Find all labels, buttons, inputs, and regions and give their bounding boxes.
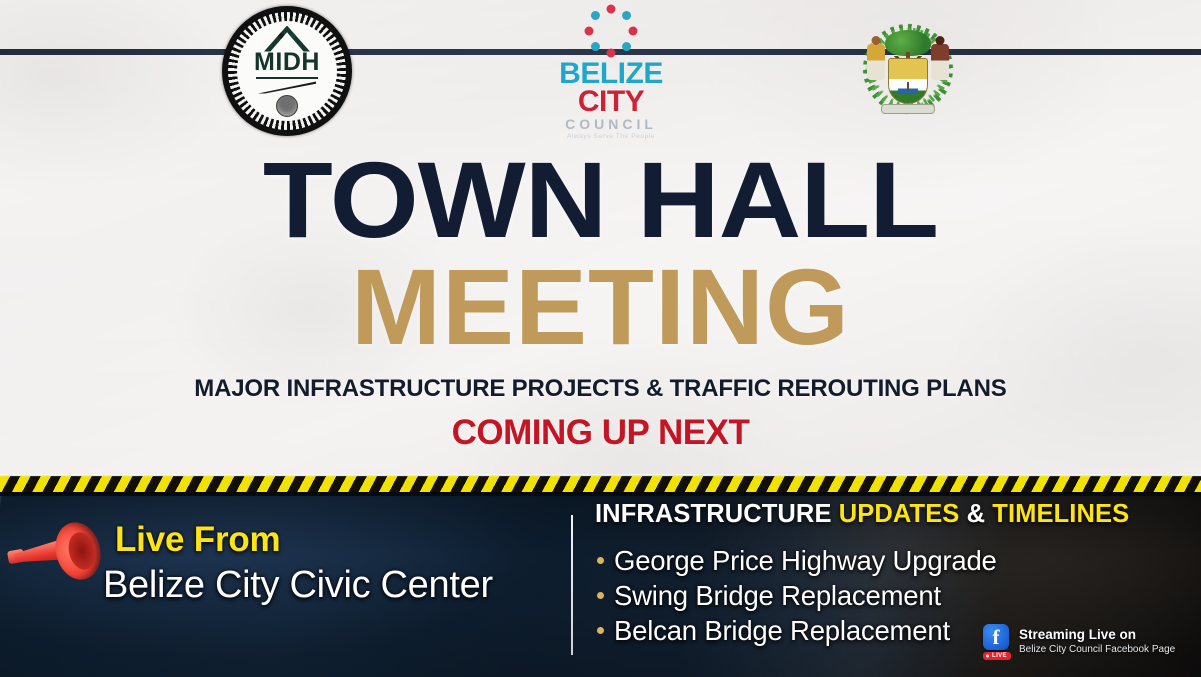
hazard-tape-divider <box>0 476 1201 492</box>
live-venue-name: Belize City Civic Center <box>103 564 493 607</box>
hazard-tape-highlight <box>0 474 1201 477</box>
streaming-badge: f LIVE Streaming Live on Belize City Cou… <box>983 624 1175 658</box>
infrastructure-heading-updates: UPDATES <box>839 500 960 528</box>
streaming-headline: Streaming Live on <box>1019 627 1175 643</box>
streaming-page-name: Belize City Council Facebook Page <box>1019 644 1175 656</box>
coming-up-next-text: COMING UP NEXT <box>452 413 750 453</box>
infrastructure-heading: INFRASTRUCTURE UPDATES & TIMELINES <box>595 500 1201 529</box>
list-item: Swing Bridge Replacement <box>595 578 1201 613</box>
page-title-meeting: MEETING <box>351 257 850 356</box>
headline-block: TOWN HALL MEETING MAJOR INFRASTRUCTURE P… <box>0 0 1201 478</box>
column-divider <box>571 515 573 655</box>
facebook-icon: f <box>983 624 1009 650</box>
infrastructure-heading-part1: INFRASTRUCTURE <box>595 500 839 528</box>
facebook-icon-wrap: f LIVE <box>983 624 1011 658</box>
broadcast-lower-third-graphic: MIDH BELIZE CITY COUNCIL Always Serve Th… <box>0 0 1201 677</box>
live-location-block: Live From Belize City Civic Center <box>0 502 568 632</box>
infrastructure-heading-timelines: TIMELINES <box>992 500 1129 528</box>
list-item: George Price Highway Upgrade <box>595 543 1201 578</box>
streaming-text: Streaming Live on Belize City Council Fa… <box>1019 627 1175 655</box>
infrastructure-heading-amp: & <box>959 500 992 528</box>
megaphone-icon <box>8 520 104 582</box>
page-title-town-hall: TOWN HALL <box>263 150 938 249</box>
subtitle-text: MAJOR INFRASTRUCTURE PROJECTS & TRAFFIC … <box>194 375 1006 403</box>
bottom-section-top-edge <box>0 492 1201 496</box>
live-badge: LIVE <box>983 652 1011 660</box>
live-from-label: Live From <box>115 520 280 560</box>
